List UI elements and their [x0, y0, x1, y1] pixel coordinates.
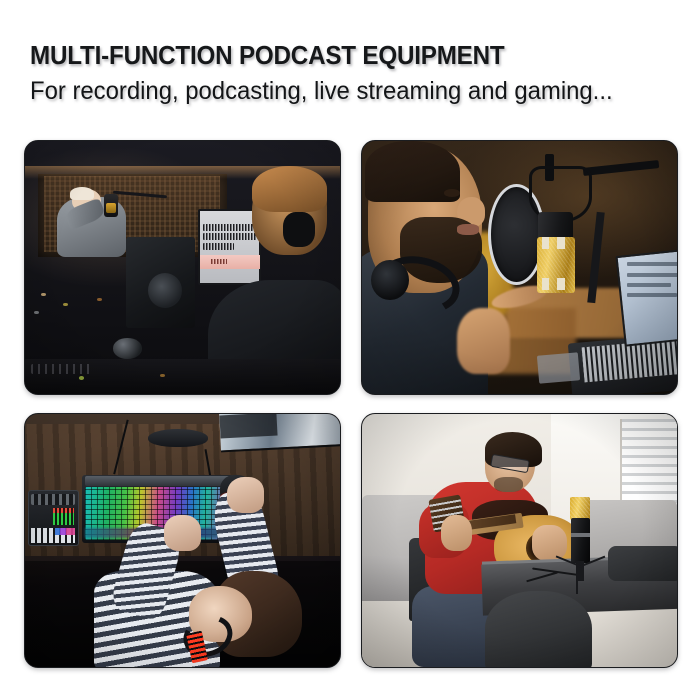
- mixing-console: [31, 364, 94, 374]
- photo-guitar-recording[interactable]: [361, 413, 678, 668]
- photo-podcast-host[interactable]: [361, 140, 678, 395]
- heading-block: MULTI-FUNCTION PODCAST EQUIPMENT For rec…: [30, 40, 690, 106]
- condenser-microphone-icon: [570, 497, 590, 520]
- page-title: MULTI-FUNCTION PODCAST EQUIPMENT: [30, 40, 644, 71]
- studio-scene: [25, 141, 340, 394]
- home-recording-scene: [362, 414, 677, 667]
- headphones-icon: [283, 212, 315, 247]
- photo-gallery-grid: [24, 140, 678, 668]
- podcast-scene: [362, 141, 677, 394]
- page-subtitle: For recording, podcasting, live streamin…: [30, 76, 660, 106]
- photo-gamer-setup[interactable]: [24, 413, 341, 668]
- product-banner: MULTI-FUNCTION PODCAST EQUIPMENT For rec…: [0, 0, 700, 700]
- gaming-scene: [25, 414, 340, 667]
- photo-studio-recording[interactable]: [24, 140, 341, 395]
